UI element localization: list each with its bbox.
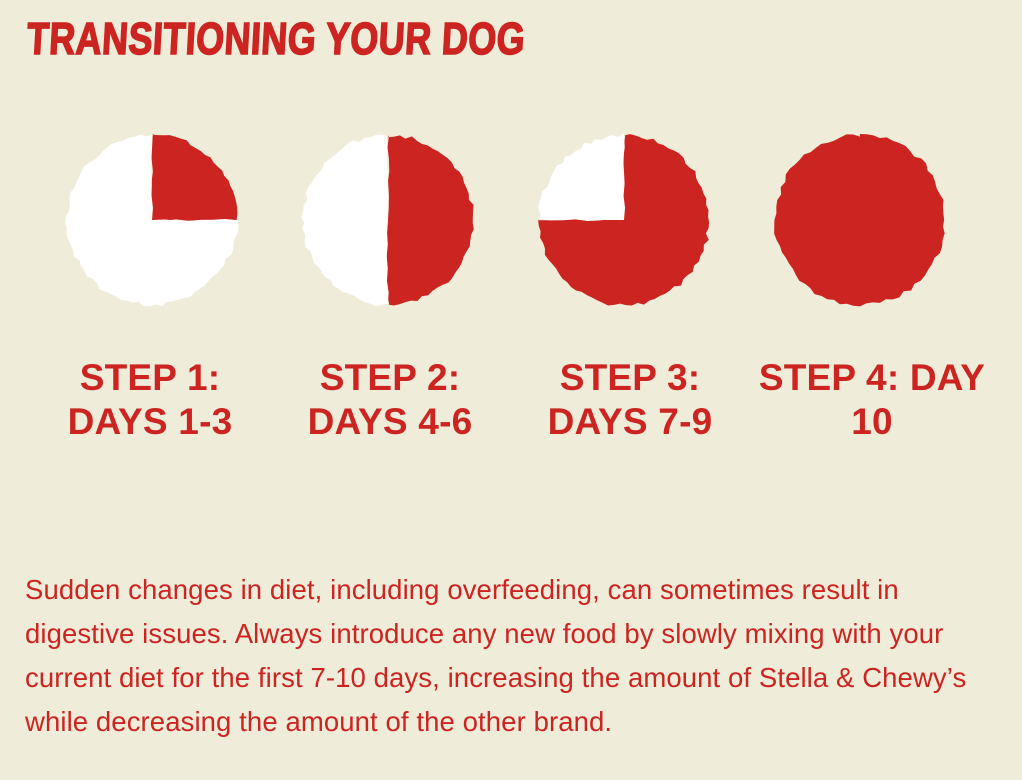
pie-chart-step-3 — [534, 130, 714, 310]
step-label-row: STEP 1: DAYS 1-3 STEP 2: DAYS 4-6 STEP 3… — [0, 356, 1022, 506]
pie-slice — [387, 135, 474, 306]
step-label-3: STEP 3: DAYS 7-9 — [510, 356, 750, 444]
pie-svg-step-2 — [298, 130, 478, 310]
pie-chart-step-2 — [298, 130, 478, 310]
step-label-2: STEP 2: DAYS 4-6 — [270, 356, 510, 444]
pie-chart-step-1 — [62, 130, 242, 310]
pie-slice — [151, 134, 237, 221]
pie-chart-step-4 — [770, 130, 950, 310]
body-paragraph: Sudden changes in diet, including overfe… — [25, 568, 980, 744]
pie-svg-step-3 — [534, 130, 714, 310]
infographic-page: TRANSITIONING YOUR DOG STEP 1: DAYS 1-3 … — [0, 0, 1022, 780]
pie-slice — [538, 133, 625, 221]
pie-svg-step-4 — [770, 130, 950, 310]
pie-slice — [301, 134, 388, 306]
pie-chart-row — [0, 130, 1022, 320]
step-label-1: STEP 1: DAYS 1-3 — [30, 356, 270, 444]
pie-svg-step-1 — [62, 130, 242, 310]
step-label-4: STEP 4: DAY 10 — [752, 356, 992, 444]
pie-slice — [774, 134, 945, 306]
page-title: TRANSITIONING YOUR DOG — [26, 14, 527, 64]
